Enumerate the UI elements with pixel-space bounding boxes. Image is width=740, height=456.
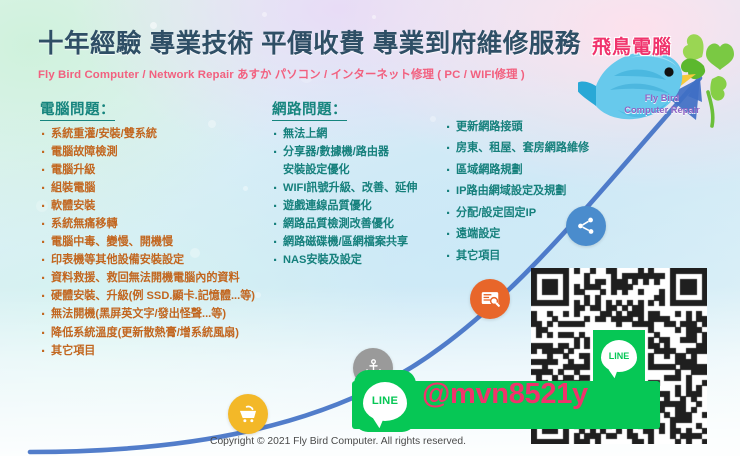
list-item: 組裝電腦 <box>40 182 255 196</box>
header: 十年經驗 專業技術 平價收費 專業到府維修服務 Fly Bird Compute… <box>38 30 598 82</box>
list-item: 印表機等其他設備安裝設定 <box>40 254 255 268</box>
shopping-cart-glyph <box>237 403 259 425</box>
list-item: 其它項目 <box>40 345 255 359</box>
list-item: 系統無痛移轉 <box>40 218 255 232</box>
shopping-cart-icon[interactable] <box>228 394 268 434</box>
logo-chinese-name: 飛鳥電腦 <box>592 32 672 59</box>
list-item: 電腦中毒、變慢、開機慢 <box>40 236 255 250</box>
list-item: 網路磁碟機/區網檔案共享 <box>272 236 417 250</box>
page-title: 十年經驗 專業技術 平價收費 專業到府維修服務 <box>38 30 598 59</box>
qr-line-word: LINE <box>609 351 630 361</box>
list-item: 分享器/數據機/路由器 <box>272 146 417 160</box>
line-word: LINE <box>372 395 398 407</box>
qr-line-bubble: LINE <box>601 340 637 372</box>
computer-problems-column: 電腦問題： 系統重灌/安裝/雙系統電腦故障檢測電腦升級組裝電腦軟體安裝系統無痛移… <box>40 98 255 363</box>
share-network-icon[interactable] <box>566 206 606 246</box>
share-network-glyph <box>575 215 597 237</box>
monitor-search-glyph <box>479 288 501 310</box>
list-item: 無法上網 <box>272 128 417 142</box>
list-item: 無法開機(黑屏英文字/發出怪聲...等) <box>40 308 255 322</box>
list-item: 系統重灌/安裝/雙系統 <box>40 128 255 142</box>
page-subtitle: Fly Bird Computer / Network Repair あすか パ… <box>38 66 598 82</box>
list-item: NAS安裝及設定 <box>272 254 417 268</box>
network-problems-heading: 網路問題： <box>272 98 347 121</box>
list-item: 更新網路接頭 <box>445 121 589 135</box>
list-item: 硬體安裝、升級(例 SSD.顯卡.記憶體...等) <box>40 290 255 304</box>
brand-logo[interactable]: 飛鳥電腦 Fly Bird Computer Repair <box>578 14 740 132</box>
line-id-text: @mvn8521y <box>422 378 588 411</box>
list-item: 其它項目 <box>445 250 589 264</box>
copyright-text: Copyright © 2021 Fly Bird Computer. All … <box>0 436 740 447</box>
computer-problems-list: 系統重灌/安裝/雙系統電腦故障檢測電腦升級組裝電腦軟體安裝系統無痛移轉電腦中毒、… <box>40 128 255 358</box>
list-item: 網路品質檢測改善優化 <box>272 218 417 232</box>
list-item: 電腦升級 <box>40 164 255 178</box>
computer-problems-heading: 電腦問題： <box>40 98 115 121</box>
line-contact-block[interactable]: LINE @mvn8521y <box>352 381 660 429</box>
list-item: 房東、租屋、套房網路維修 <box>445 142 589 156</box>
list-item: 軟體安裝 <box>40 200 255 214</box>
list-item: WIFI訊號升級、改善、延伸 <box>272 182 417 196</box>
network-problems-list: 無法上網分享器/數據機/路由器安裝設定優化WIFI訊號升級、改善、延伸遊戲連線品… <box>272 128 417 268</box>
monitor-search-icon[interactable] <box>470 279 510 319</box>
network-problems-column: 網路問題： 無法上網分享器/數據機/路由器安裝設定優化WIFI訊號升級、改善、延… <box>272 98 417 272</box>
line-app-icon: LINE <box>354 370 416 432</box>
line-bubble-shape: LINE <box>363 382 407 421</box>
list-item: 安裝設定優化 <box>272 164 417 178</box>
list-item: IP路由網域設定及規劃 <box>445 185 589 199</box>
qr-line-logo: LINE <box>593 330 645 382</box>
list-item: 電腦故障檢測 <box>40 146 255 160</box>
network-problems-extra-list: 更新網路接頭房東、租屋、套房網路維修區域網路規劃IP路由網域設定及規劃分配/設定… <box>445 121 589 264</box>
logo-english-line2: Computer Repair <box>600 105 724 117</box>
list-item: 遊戲連線品質優化 <box>272 200 417 214</box>
list-item: 區域網路規劃 <box>445 164 589 178</box>
logo-english-line1: Fly Bird <box>600 93 724 105</box>
network-problems-column-extra: 更新網路接頭房東、租屋、套房網路維修區域網路規劃IP路由網域設定及規劃分配/設定… <box>445 121 589 271</box>
list-item: 資料救援、救回無法開機電腦內的資料 <box>40 272 255 286</box>
poster-root: 十年經驗 專業技術 平價收費 專業到府維修服務 Fly Bird Compute… <box>0 0 740 456</box>
list-item: 降低系統溫度(更新散熱膏/增系統風扇) <box>40 327 255 341</box>
logo-english-name: Fly Bird Computer Repair <box>600 93 724 116</box>
